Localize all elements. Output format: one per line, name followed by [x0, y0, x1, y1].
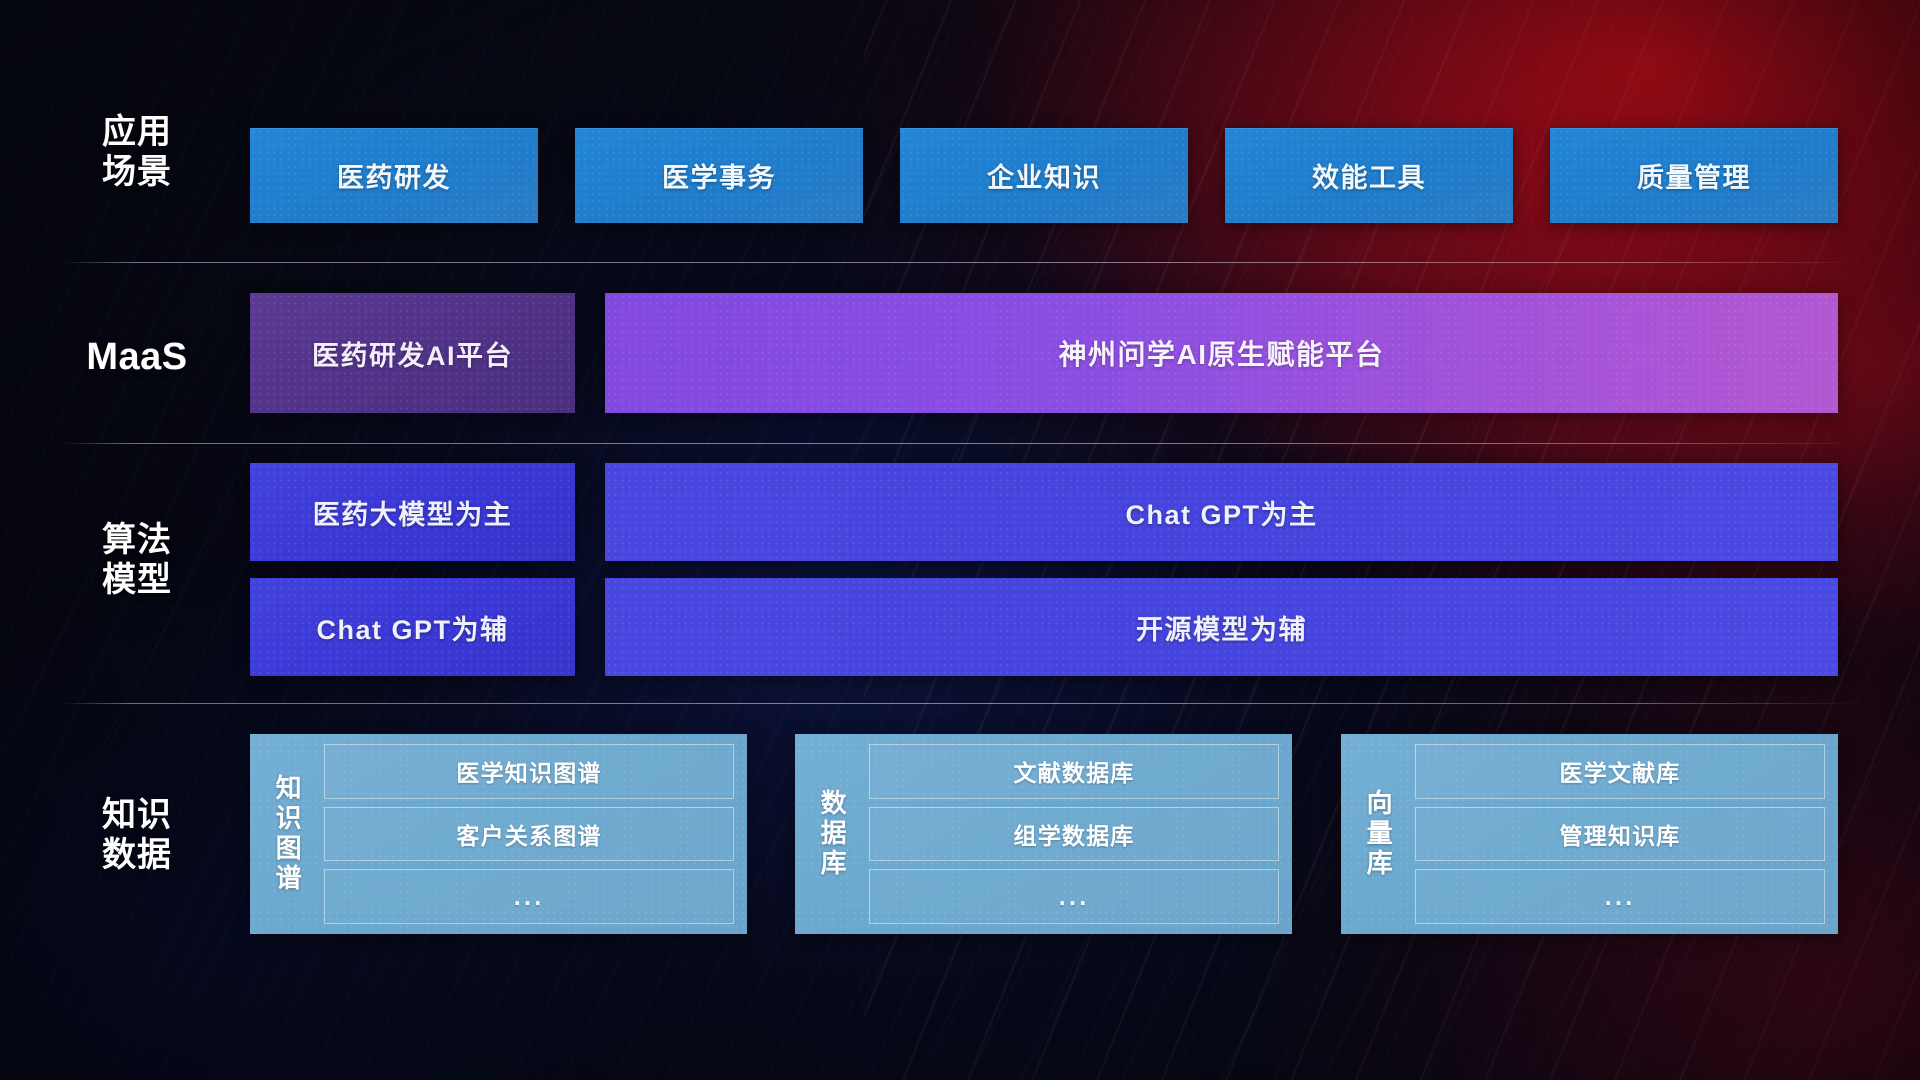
layer-label-application-line2: 场景: [62, 152, 212, 192]
maas-box-shenzhou-wenxue-platform[interactable]: 神州问学AI原生赋能平台: [605, 293, 1838, 413]
application-box-efficiency-tools[interactable]: 效能工具: [1225, 128, 1513, 223]
layer-label-knowledge-line1: 知识: [62, 795, 212, 835]
algorithm-box-pharma-llm-primary[interactable]: 医药大模型为主: [250, 463, 575, 561]
knowledge-item-list: 医学文献库 管理知识库 ...: [1415, 744, 1825, 924]
layer-label-application: 应用 场景: [62, 112, 212, 192]
knowledge-item-more[interactable]: ...: [1415, 869, 1825, 924]
knowledge-item[interactable]: 客户关系图谱: [324, 807, 734, 862]
algorithm-box-chatgpt-secondary[interactable]: Chat GPT为辅: [250, 578, 575, 676]
knowledge-group-title: 数据库: [795, 744, 869, 924]
knowledge-item-list: 医学知识图谱 客户关系图谱 ...: [324, 744, 734, 924]
divider-algorithm-knowledge: [62, 703, 1860, 704]
layer-label-algorithm-line2: 模型: [62, 560, 212, 600]
knowledge-item[interactable]: 组学数据库: [869, 807, 1279, 862]
diagram-content: 应用 场景 医药研发 医学事务 企业知识 效能工具 质量管理 MaaS 医药: [0, 0, 1920, 1080]
knowledge-group-title: 向量库: [1341, 744, 1415, 924]
knowledge-item[interactable]: 医学知识图谱: [324, 744, 734, 799]
application-box-label: 效能工具: [1312, 156, 1426, 195]
maas-box-label: 神州问学AI原生赋能平台: [1058, 333, 1384, 373]
application-box-medical-affairs[interactable]: 医学事务: [575, 128, 863, 223]
knowledge-item[interactable]: 医学文献库: [1415, 744, 1825, 799]
maas-box-drug-rd-ai-platform[interactable]: 医药研发AI平台: [250, 293, 575, 413]
algorithm-box-label: Chat GPT为主: [1125, 493, 1317, 532]
algorithm-box-label: 医药大模型为主: [313, 493, 513, 532]
layer-label-algorithm-line1: 算法: [62, 520, 212, 560]
knowledge-group-knowledge-graph[interactable]: 知识图谱 医学知识图谱 客户关系图谱 ...: [250, 734, 747, 934]
layer-label-maas: MaaS: [62, 335, 212, 380]
slide-canvas: 应用 场景 医药研发 医学事务 企业知识 效能工具 质量管理 MaaS 医药: [0, 0, 1920, 1080]
application-box-label: 企业知识: [987, 156, 1101, 195]
maas-box-label: 医药研发AI平台: [312, 334, 513, 373]
application-box-enterprise-knowledge[interactable]: 企业知识: [900, 128, 1188, 223]
application-box-drug-rd[interactable]: 医药研发: [250, 128, 538, 223]
knowledge-item-more[interactable]: ...: [869, 869, 1279, 924]
layer-label-application-line1: 应用: [62, 112, 212, 152]
layer-label-knowledge: 知识 数据: [62, 795, 212, 875]
algorithm-box-chatgpt-primary[interactable]: Chat GPT为主: [605, 463, 1838, 561]
application-box-label: 医药研发: [337, 156, 451, 195]
application-box-quality-management[interactable]: 质量管理: [1550, 128, 1838, 223]
application-box-label: 医学事务: [662, 156, 776, 195]
layer-label-algorithm: 算法 模型: [62, 520, 212, 600]
knowledge-group-vector-store[interactable]: 向量库 医学文献库 管理知识库 ...: [1341, 734, 1838, 934]
knowledge-item[interactable]: 文献数据库: [869, 744, 1279, 799]
algorithm-box-label: 开源模型为辅: [1136, 608, 1307, 647]
knowledge-group-title: 知识图谱: [250, 744, 324, 924]
divider-maas-algorithm: [62, 443, 1860, 444]
layer-label-knowledge-line2: 数据: [62, 835, 212, 875]
knowledge-group-database[interactable]: 数据库 文献数据库 组学数据库 ...: [795, 734, 1292, 934]
application-box-label: 质量管理: [1637, 156, 1751, 195]
algorithm-box-opensource-secondary[interactable]: 开源模型为辅: [605, 578, 1838, 676]
algorithm-box-label: Chat GPT为辅: [316, 608, 508, 647]
knowledge-item[interactable]: 管理知识库: [1415, 807, 1825, 862]
divider-application-maas: [62, 262, 1860, 263]
knowledge-item-list: 文献数据库 组学数据库 ...: [869, 744, 1279, 924]
knowledge-item-more[interactable]: ...: [324, 869, 734, 924]
